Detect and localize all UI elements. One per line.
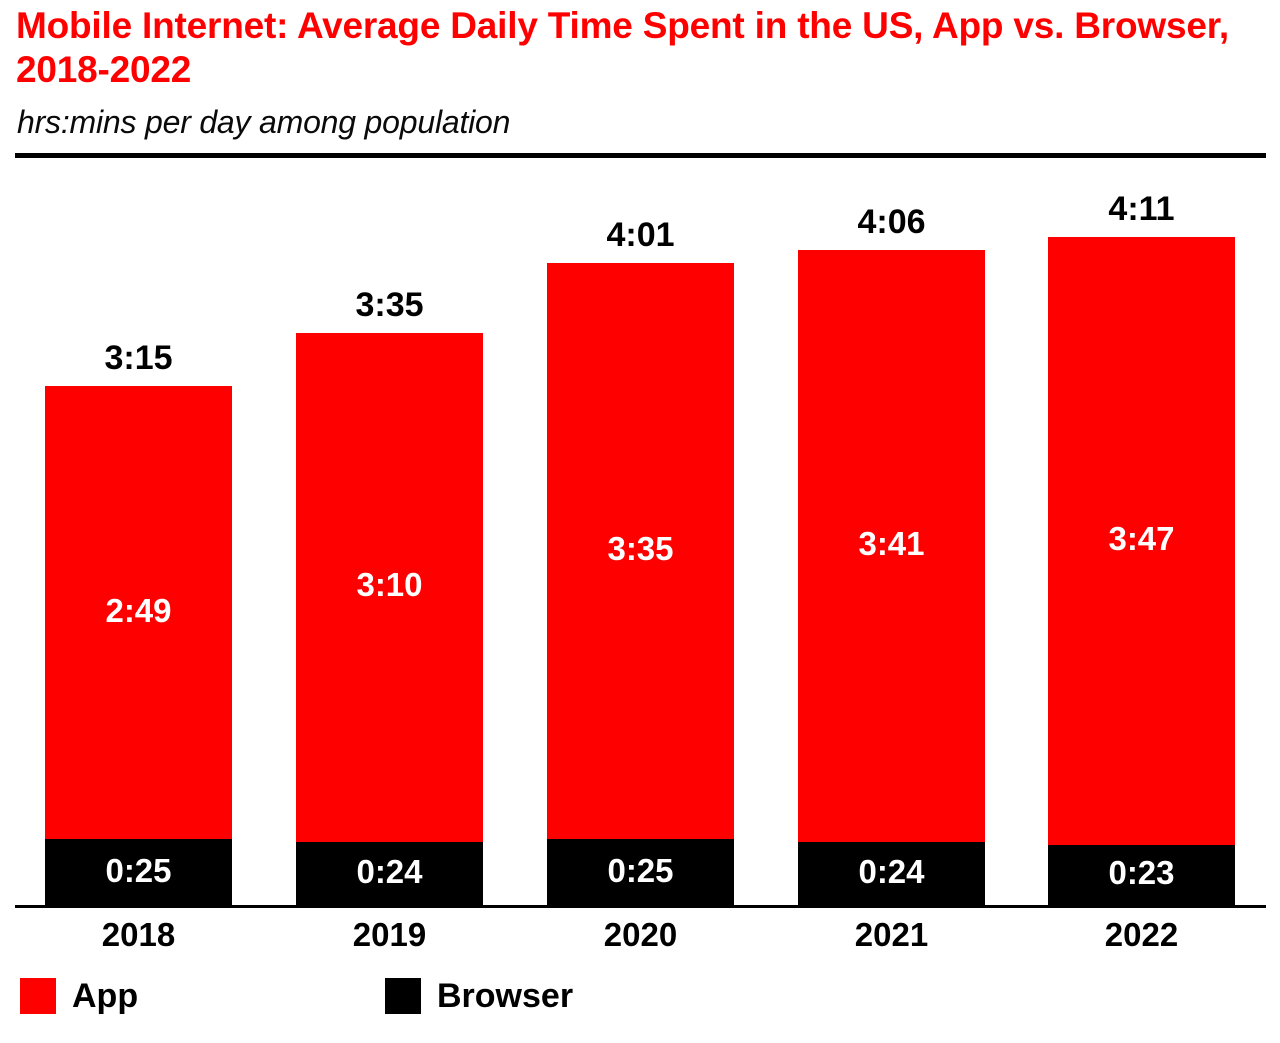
chart-plot-area: 3:152:490:2520183:353:100:2420194:013:35… xyxy=(0,0,1280,1043)
bar-group[interactable]: 4:063:410:242021 xyxy=(798,250,985,906)
bar-group[interactable]: 4:113:470:232022 xyxy=(1048,237,1235,906)
bar-segment-label-browser: 0:25 xyxy=(45,852,232,890)
bar-total-label: 4:01 xyxy=(547,216,734,255)
bar-segment-label-app: 3:41 xyxy=(798,525,985,563)
bar-segment-label-app: 3:35 xyxy=(547,530,734,568)
legend-label-app: App xyxy=(72,978,138,1014)
bar-segment-label-app: 2:49 xyxy=(45,592,232,630)
bar-total-label: 4:11 xyxy=(1048,190,1235,229)
bar-segment-label-browser: 0:23 xyxy=(1048,854,1235,892)
bar-total-label: 3:35 xyxy=(296,286,483,325)
bar-segment-label-browser: 0:25 xyxy=(547,852,734,890)
legend-label-browser: Browser xyxy=(437,978,573,1014)
x-axis-line xyxy=(15,905,1266,908)
bar-segment-label-app: 3:10 xyxy=(296,566,483,604)
bar-group[interactable]: 4:013:350:252020 xyxy=(547,263,734,906)
x-axis-tick-label: 2020 xyxy=(547,916,734,954)
x-axis-tick-label: 2021 xyxy=(798,916,985,954)
x-axis-tick-label: 2018 xyxy=(45,916,232,954)
legend-swatch-app-icon xyxy=(20,978,56,1014)
bar-segment-label-browser: 0:24 xyxy=(798,853,985,891)
legend-item-app[interactable]: App xyxy=(20,978,138,1014)
x-axis-tick-label: 2022 xyxy=(1048,916,1235,954)
bar-segment-label-browser: 0:24 xyxy=(296,853,483,891)
bar-group[interactable]: 3:353:100:242019 xyxy=(296,333,483,906)
x-axis-tick-label: 2019 xyxy=(296,916,483,954)
bar-group[interactable]: 3:152:490:252018 xyxy=(45,386,232,906)
chart-legend: App Browser xyxy=(0,978,1280,1028)
bar-segment-label-app: 3:47 xyxy=(1048,520,1235,558)
legend-item-browser[interactable]: Browser xyxy=(385,978,573,1014)
bar-total-label: 4:06 xyxy=(798,203,985,242)
legend-swatch-browser-icon xyxy=(385,978,421,1014)
bar-total-label: 3:15 xyxy=(45,339,232,378)
